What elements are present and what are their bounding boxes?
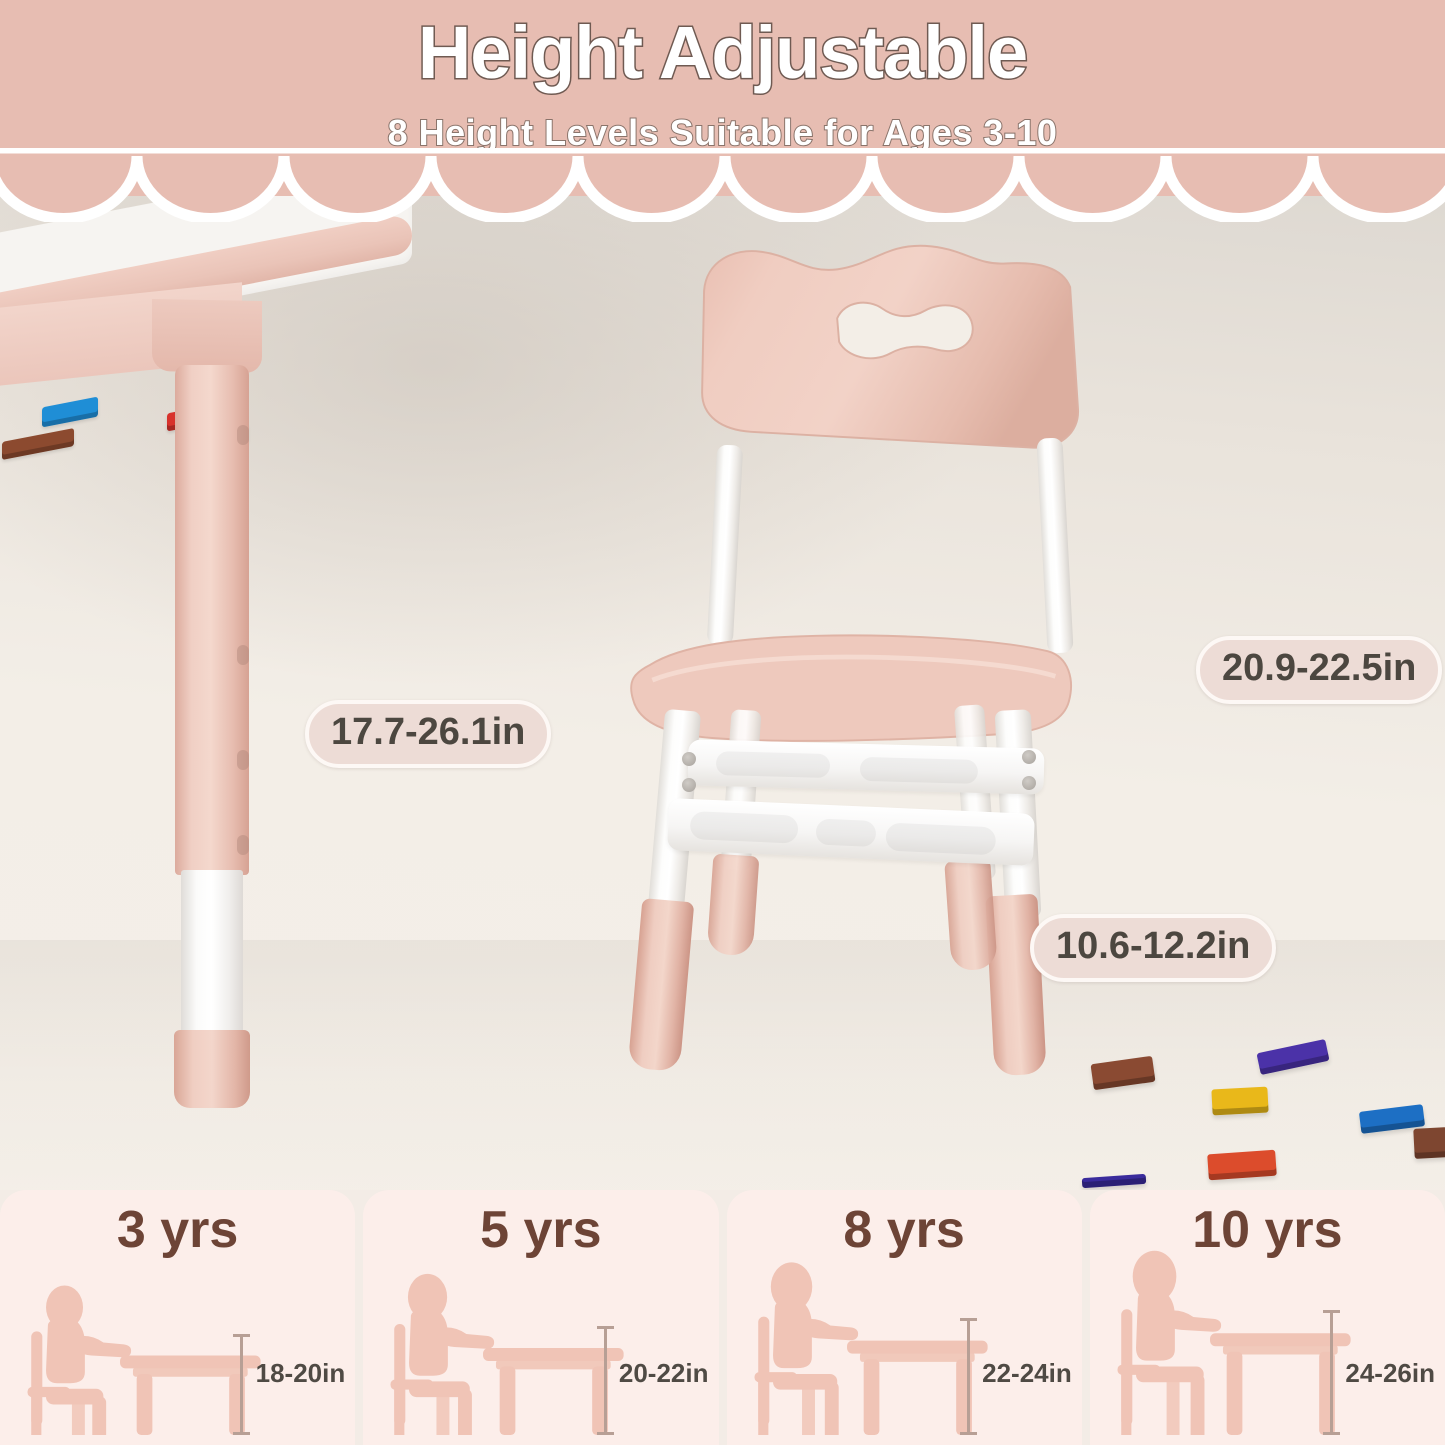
block-blue [42, 397, 98, 428]
age-card-0[interactable]: 3 yrs18-20in [0, 1190, 355, 1445]
chair-crossbar-upper [687, 739, 1044, 794]
age-dimension-cap-top [597, 1326, 614, 1329]
age-dimension-cap-bottom [233, 1432, 250, 1435]
table-leg-foot [174, 1030, 250, 1108]
age-dimension-label: 20-22in [619, 1358, 709, 1389]
block-red-1 [1207, 1150, 1277, 1181]
table-leg-bracket [152, 299, 262, 373]
chair-foot-front-left [628, 898, 695, 1072]
table-leg-extension [181, 870, 243, 1045]
age-dimension-cap-top [1323, 1310, 1340, 1313]
table-leg-notch-1 [237, 425, 249, 445]
table-leg-notch-4 [237, 835, 249, 855]
chair-rear-foot-right [944, 859, 998, 972]
chair-screw-right-lower [1022, 776, 1036, 790]
chair-screw-upper [682, 752, 696, 766]
crossbar-dent [690, 811, 799, 844]
infographic-canvas: 17.7-26.1in 20.9-22.5in 10.6-12.2in [0, 0, 1445, 1445]
chair-rear-foot-left [707, 854, 760, 957]
block-brown [2, 428, 74, 460]
measure-label-seat-height: 10.6-12.2in [1030, 914, 1276, 982]
block-yellow-1 [1211, 1087, 1268, 1116]
table-leg-notch-2 [237, 645, 249, 665]
adjustable-chair [560, 210, 1120, 1170]
crossbar-dent [716, 751, 831, 778]
age-card-1[interactable]: 5 yrs20-22in [363, 1190, 718, 1445]
adjustable-table [0, 180, 412, 1140]
age-dimension-cap-bottom [960, 1432, 977, 1435]
age-dimension-cap-bottom [597, 1432, 614, 1435]
chair-backrest [686, 240, 1096, 470]
measure-label-table: 17.7-26.1in [305, 700, 551, 768]
chair-screw-lower [682, 778, 696, 792]
age-dimension-cap-bottom [1323, 1432, 1340, 1435]
crossbar-dent [860, 757, 979, 784]
age-dimension-cap-top [233, 1334, 250, 1337]
age-card-3[interactable]: 10 yrs24-26in [1090, 1190, 1445, 1445]
age-dimension-bar [1330, 1311, 1333, 1433]
age-guide-panel: 3 yrs18-20in5 yrs20-22in8 yrs22-24in10 y… [0, 1190, 1445, 1445]
chair-back-post-left [707, 444, 743, 645]
measure-label-chair-total: 20.9-22.5in [1196, 636, 1442, 704]
chair-screw-right-upper [1022, 750, 1036, 764]
header-banner: Height Adjustable 8 Height Levels Suitab… [0, 0, 1445, 196]
age-dimension-cap-top [960, 1318, 977, 1321]
table-leg-notch-3 [237, 750, 249, 770]
crossbar-dent [815, 818, 876, 847]
block-brown-2 [1413, 1127, 1445, 1159]
age-dimension-bar [967, 1319, 970, 1433]
age-dimension-label: 22-24in [982, 1358, 1072, 1389]
age-dimension-bar [604, 1327, 607, 1433]
age-dimension-label: 24-26in [1345, 1358, 1435, 1389]
age-dimension-label: 18-20in [256, 1358, 346, 1389]
age-card-2[interactable]: 8 yrs22-24in [727, 1190, 1082, 1445]
scallop-divider [0, 148, 1445, 222]
age-dimension-bar [240, 1335, 243, 1433]
page-title: Height Adjustable [0, 12, 1445, 95]
crossbar-dent [885, 823, 996, 856]
